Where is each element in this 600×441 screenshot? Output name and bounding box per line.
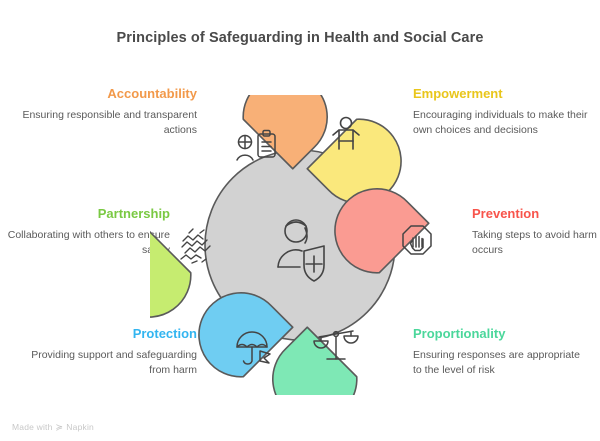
label-partnership-description: Collaborating with others to ensure safe… bbox=[0, 228, 170, 258]
page-title: Principles of Safeguarding in Health and… bbox=[0, 30, 600, 46]
footer-brand-name: Napkin bbox=[66, 422, 94, 432]
footer-attribution: Made with ≽ Napkin bbox=[12, 422, 94, 432]
safeguarding-principles-diagram bbox=[150, 95, 450, 395]
label-prevention-description: Taking steps to avoid harm before it occ… bbox=[472, 228, 600, 258]
footer-made-with-text: Made with bbox=[12, 422, 53, 432]
label-prevention-heading: Prevention bbox=[472, 206, 600, 222]
label-prevention: Prevention Taking steps to avoid harm be… bbox=[472, 206, 600, 257]
petal-partnership[interactable] bbox=[150, 223, 210, 334]
label-partnership: Partnership Collaborating with others to… bbox=[0, 206, 170, 257]
napkin-logo-icon: ≽ bbox=[56, 423, 64, 432]
label-partnership-heading: Partnership bbox=[0, 206, 170, 222]
